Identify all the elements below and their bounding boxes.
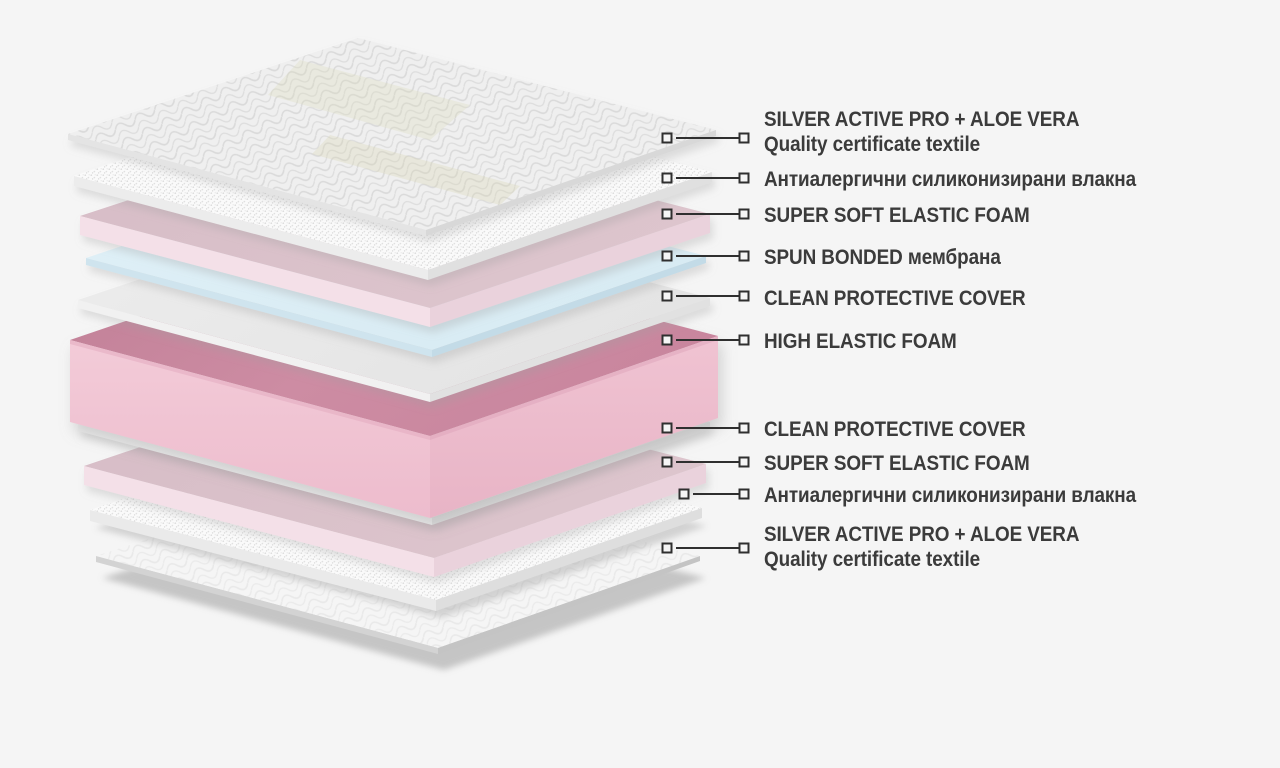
- connector-square-right: [740, 336, 749, 345]
- callout-label-line1: CLEAN PROTECTIVE COVER: [764, 286, 1026, 311]
- connector-square-left: [663, 336, 672, 345]
- connector-square-right: [740, 458, 749, 467]
- connector-square-right: [740, 292, 749, 301]
- callout-connector: [680, 490, 749, 499]
- diagram-stage: SILVER ACTIVE PRO + ALOE VERAQuality cer…: [0, 0, 1280, 768]
- callout-label-line1: CLEAN PROTECTIVE COVER: [764, 417, 1026, 442]
- callout-label: SILVER ACTIVE PRO + ALOE VERAQuality cer…: [764, 107, 1079, 157]
- callout-label-line2: Quality certificate textile: [764, 547, 1079, 572]
- callout-label-line1: HIGH ELASTIC FOAM: [764, 329, 957, 354]
- connector-square-right: [740, 210, 749, 219]
- callout-label-line1: SUPER SOFT ELASTIC FOAM: [764, 203, 1030, 228]
- connector-square-right: [740, 134, 749, 143]
- connector-square-left: [663, 424, 672, 433]
- callout-label: SUPER SOFT ELASTIC FOAM: [764, 203, 1030, 228]
- connector-square-left: [663, 292, 672, 301]
- connector-square-left: [663, 174, 672, 183]
- callout-label-line1: SILVER ACTIVE PRO + ALOE VERA: [764, 522, 1079, 547]
- connector-square-left: [663, 210, 672, 219]
- callout-label-line1: SILVER ACTIVE PRO + ALOE VERA: [764, 107, 1079, 132]
- connector-square-right: [740, 252, 749, 261]
- callout-label-line1: Антиалергични силиконизирани влакна: [764, 483, 1136, 508]
- callout-label: CLEAN PROTECTIVE COVER: [764, 417, 1026, 442]
- callout-label-line1: SUPER SOFT ELASTIC FOAM: [764, 451, 1030, 476]
- callout-label-line2: Quality certificate textile: [764, 132, 1079, 157]
- callout-label-line1: SPUN BONDED мембрана: [764, 245, 1001, 270]
- callout-label: SILVER ACTIVE PRO + ALOE VERAQuality cer…: [764, 522, 1079, 572]
- connector-square-left: [680, 490, 689, 499]
- callout-label: HIGH ELASTIC FOAM: [764, 329, 957, 354]
- connector-square-right: [740, 174, 749, 183]
- callout-label: SUPER SOFT ELASTIC FOAM: [764, 451, 1030, 476]
- connector-square-right: [740, 544, 749, 553]
- callout-label: CLEAN PROTECTIVE COVER: [764, 286, 1026, 311]
- connector-square-left: [663, 252, 672, 261]
- connector-square-left: [663, 134, 672, 143]
- connector-square-right: [740, 424, 749, 433]
- mattress-layers-illustration: [0, 0, 1280, 768]
- connector-square-left: [663, 544, 672, 553]
- connector-square-right: [740, 490, 749, 499]
- callout-label: SPUN BONDED мембрана: [764, 245, 1001, 270]
- connector-square-left: [663, 458, 672, 467]
- callout-label-line1: Антиалергични силиконизирани влакна: [764, 167, 1136, 192]
- callout-label: Антиалергични силиконизирани влакна: [764, 167, 1136, 192]
- callout-label: Антиалергични силиконизирани влакна: [764, 483, 1136, 508]
